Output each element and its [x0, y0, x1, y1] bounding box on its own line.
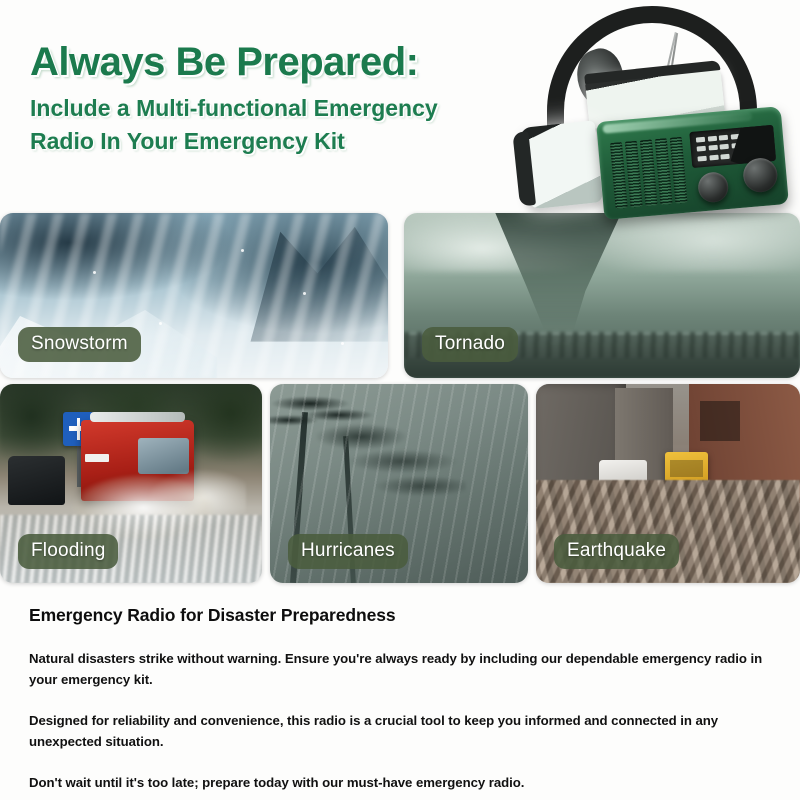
description-heading: Emergency Radio for Disaster Preparednes… — [29, 605, 771, 626]
page-title: Always Be Prepared: — [30, 42, 530, 82]
tile-row-bottom: Flooding Hurricanes Earthquake — [0, 384, 800, 583]
tile-row-top: Snowstorm Tornado — [0, 213, 800, 378]
tile-snowstorm[interactable]: Snowstorm — [0, 213, 388, 378]
emergency-radio-product-image — [505, 2, 800, 234]
headline-subtitle-line-1: Include a Multi-functional Emergency — [30, 92, 530, 125]
description-paragraph-1: Natural disasters strike without warning… — [29, 648, 771, 691]
tile-label-earthquake: Earthquake — [554, 534, 679, 569]
description-paragraph-3: Don't wait until it's too late; prepare … — [29, 772, 771, 793]
headline-subtitle-line-2: Radio In Your Emergency Kit — [30, 125, 530, 158]
volume-knob — [742, 157, 779, 194]
tile-flooding[interactable]: Flooding — [0, 384, 262, 583]
tile-label-tornado: Tornado — [422, 327, 518, 362]
tile-hurricanes[interactable]: Hurricanes — [270, 384, 528, 583]
disaster-tile-grid: Snowstorm Tornado — [0, 213, 800, 583]
headline-subtitle: Include a Multi-functional Emergency Rad… — [30, 92, 530, 157]
tile-label-flooding: Flooding — [18, 534, 118, 569]
tile-label-hurricanes: Hurricanes — [288, 534, 408, 569]
radio-body — [596, 106, 789, 220]
tile-tornado[interactable]: Tornado — [404, 213, 800, 378]
tile-earthquake[interactable]: Earthquake — [536, 384, 800, 583]
tile-label-snowstorm: Snowstorm — [18, 327, 141, 362]
tuning-knob — [697, 171, 730, 204]
flashlight-lens — [519, 120, 603, 209]
speaker-grille — [610, 137, 687, 209]
description-paragraph-2: Designed for reliability and convenience… — [29, 710, 771, 753]
headline-block: Always Be Prepared: Include a Multi-func… — [30, 42, 530, 157]
description-section: Emergency Radio for Disaster Preparednes… — [29, 605, 771, 793]
